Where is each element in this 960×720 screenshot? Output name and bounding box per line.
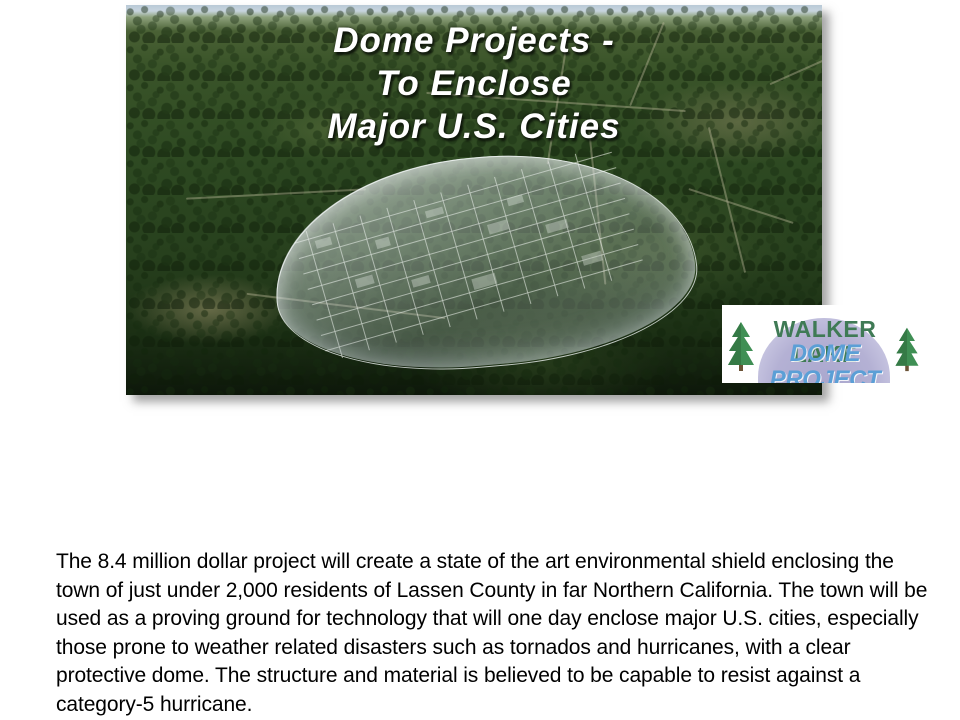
terrain-roads-overlay <box>126 5 822 395</box>
slide-photo: Dome Projects - To Enclose Major U.S. Ci… <box>126 5 822 395</box>
walker-lake-dome-project-logo: WALKER LAKE DOME PROJECT <box>722 305 925 383</box>
slide-body-paragraph: The 8.4 million dollar project will crea… <box>56 548 942 719</box>
logo-line-dome-project: DOME PROJECT <box>740 341 910 383</box>
